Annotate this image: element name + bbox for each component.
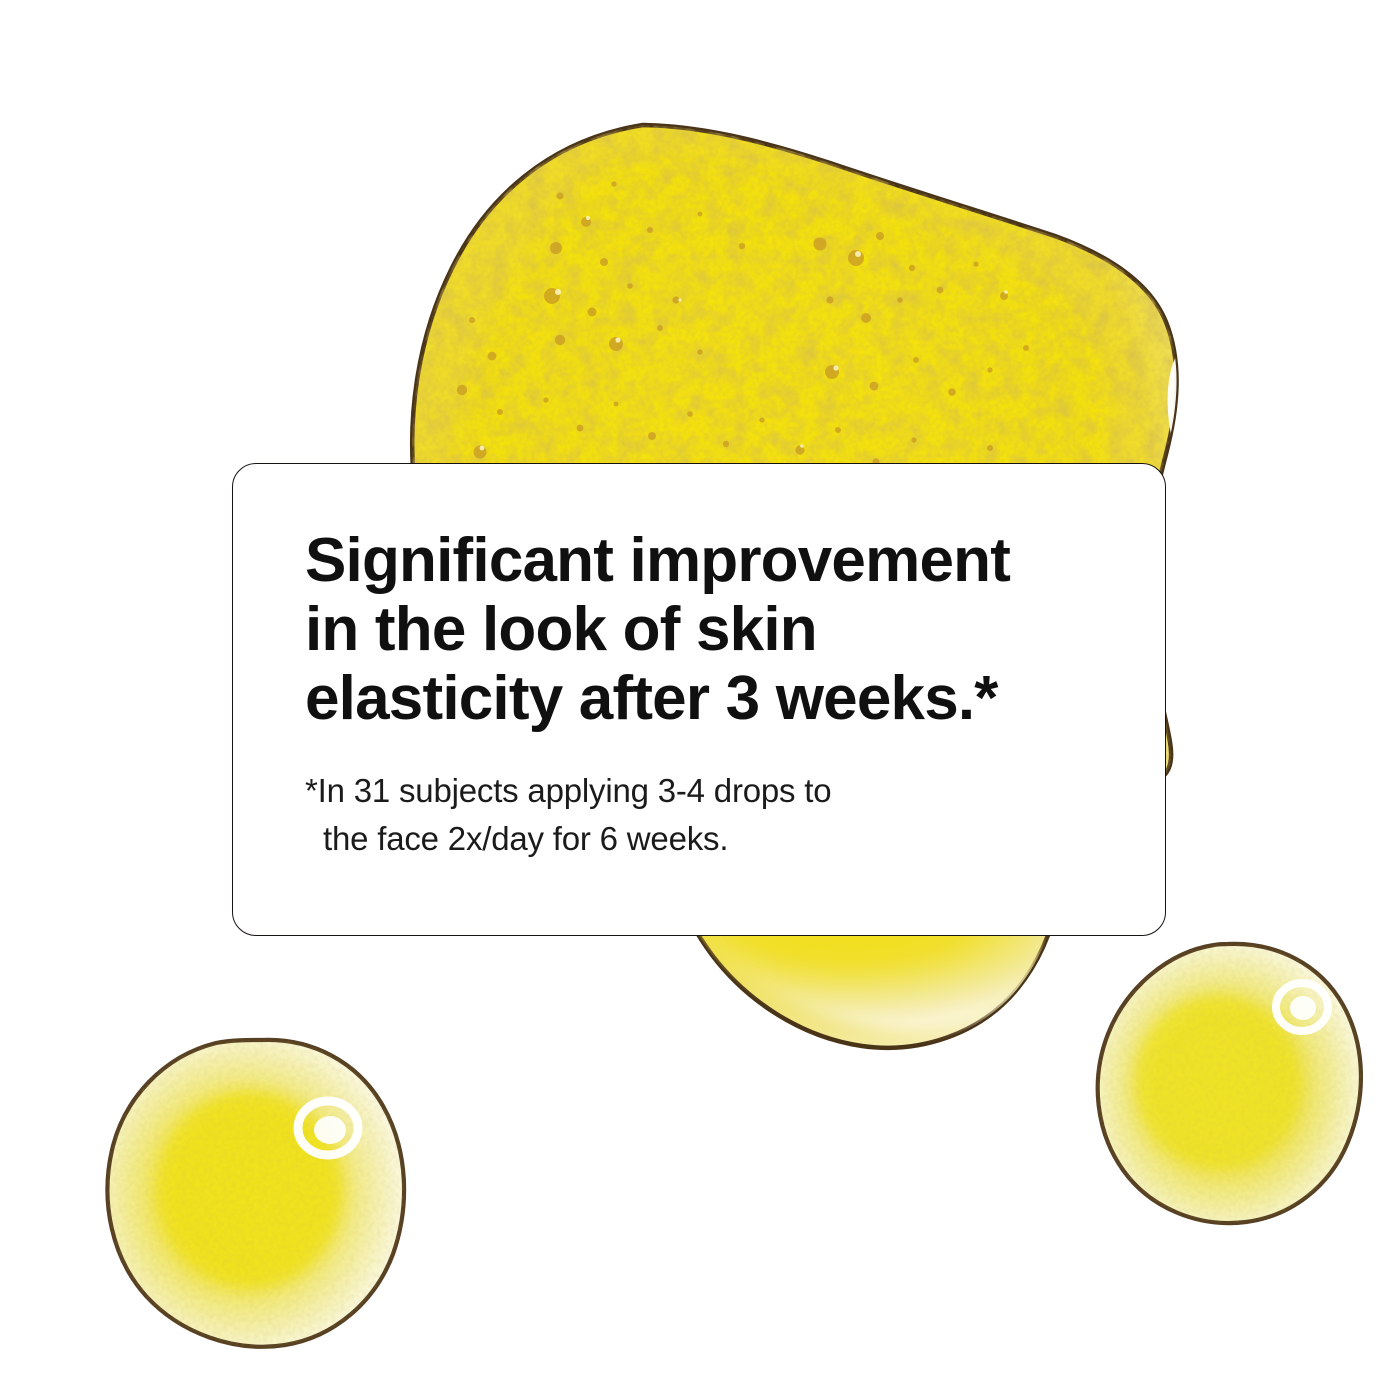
claim-headline: Significant improvement in the look of s… (305, 526, 1125, 733)
footnote-line-1: *In 31 subjects applying 3-4 drops to (305, 772, 831, 809)
droplet-bottom-right (1085, 935, 1375, 1230)
claim-footnote: *In 31 subjects applying 3-4 drops to th… (305, 733, 1125, 863)
product-claim-image: Significant improvement in the look of s… (0, 0, 1400, 1400)
claim-card-content: Significant improvement in the look of s… (305, 526, 1125, 863)
droplet-bottom-left (100, 1030, 420, 1360)
claim-card: Significant improvement in the look of s… (232, 463, 1166, 936)
footnote-line-2: the face 2x/day for 6 weeks. (305, 815, 728, 863)
